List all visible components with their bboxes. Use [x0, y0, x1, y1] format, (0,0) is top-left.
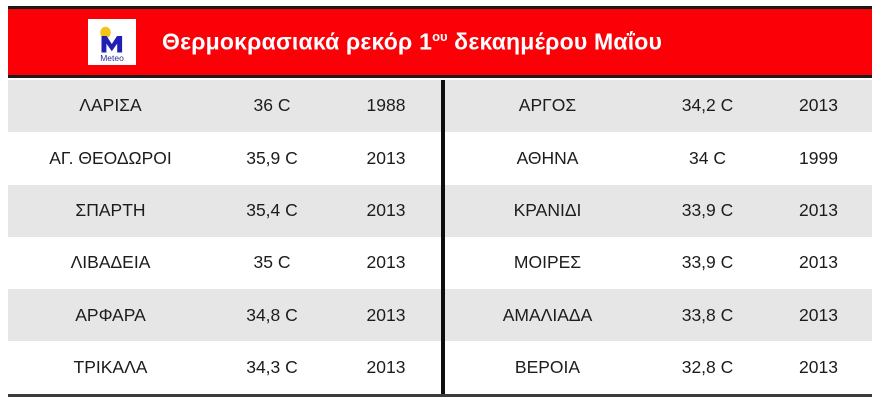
station-temperature: 34,2 C — [650, 97, 765, 115]
row-right-half: ΑΜΑΛΙΑΔΑ 33,8 C 2013 — [441, 289, 872, 341]
station-name: ΒΕΡΟΙΑ — [445, 359, 650, 377]
station-year: 2013 — [331, 307, 441, 325]
station-name: ΚΡΑΝΙΔΙ — [445, 202, 650, 220]
station-year: 2013 — [331, 202, 441, 220]
row-left-half: ΛΙΒΑΔΕΙΑ 35 C 2013 — [8, 237, 441, 289]
station-name: ΣΠΑΡΤΗ — [8, 202, 213, 220]
row-left-half: ΤΡΙΚΑΛΑ 34,3 C 2013 — [8, 341, 441, 393]
station-temperature: 34,3 C — [213, 359, 331, 377]
table-header-band: Meteo Θερμοκρασιακά ρεκόρ 1ου δεκαημέρου… — [8, 6, 872, 78]
header-red-bar: Meteo Θερμοκρασιακά ρεκόρ 1ου δεκαημέρου… — [8, 9, 872, 75]
row-right-half: ΒΕΡΟΙΑ 32,8 C 2013 — [441, 341, 872, 393]
row-right-half: ΑΘΗΝΑ 34 C 1999 — [441, 132, 872, 184]
station-name: ΑΜΑΛΙΑΔΑ — [445, 307, 650, 325]
header-title-rest: δεκαημέρου Μαΐου — [448, 29, 663, 55]
station-year: 2013 — [765, 307, 872, 325]
station-name: ΑΡΓΟΣ — [445, 97, 650, 115]
header-title-superscript: ου — [432, 29, 448, 44]
row-left-half: ΑΡΦΑΡΑ 34,8 C 2013 — [8, 289, 441, 341]
row-right-half: ΑΡΓΟΣ 34,2 C 2013 — [441, 80, 872, 132]
station-year: 2013 — [765, 202, 872, 220]
station-name: ΑΡΦΑΡΑ — [8, 307, 213, 325]
row-left-half: ΛΑΡΙΣΑ 36 C 1988 — [8, 80, 441, 132]
station-temperature: 35,9 C — [213, 150, 331, 168]
station-temperature: 35 C — [213, 254, 331, 272]
table-row: ΛΑΡΙΣΑ 36 C 1988 ΑΡΓΟΣ 34,2 C 2013 — [8, 80, 872, 132]
station-year: 2013 — [331, 254, 441, 272]
table-row: ΛΙΒΑΔΕΙΑ 35 C 2013 ΜΟΙΡΕΣ 33,9 C 2013 — [8, 237, 872, 289]
meteo-logo: Meteo — [88, 19, 136, 65]
row-left-half: ΣΠΑΡΤΗ 35,4 C 2013 — [8, 185, 441, 237]
station-name: ΛΙΒΑΔΕΙΑ — [8, 254, 213, 272]
station-name: ΑΘΗΝΑ — [445, 150, 650, 168]
header-title: Θερμοκρασιακά ρεκόρ 1ου δεκαημέρου Μαΐου — [162, 30, 662, 54]
station-name: ΤΡΙΚΑΛΑ — [8, 359, 213, 377]
station-temperature: 33,8 C — [650, 307, 765, 325]
station-year: 1988 — [331, 97, 441, 115]
station-year: 1999 — [765, 150, 872, 168]
station-year: 2013 — [765, 359, 872, 377]
row-right-half: ΜΟΙΡΕΣ 33,9 C 2013 — [441, 237, 872, 289]
station-temperature: 35,4 C — [213, 202, 331, 220]
station-year: 2013 — [331, 150, 441, 168]
row-left-half: ΑΓ. ΘΕΟΔΩΡΟΙ 35,9 C 2013 — [8, 132, 441, 184]
temperature-records-table: Meteo Θερμοκρασιακά ρεκόρ 1ου δεκαημέρου… — [0, 0, 880, 405]
table-row: ΑΓ. ΘΕΟΔΩΡΟΙ 35,9 C 2013 ΑΘΗΝΑ 34 C 1999 — [8, 132, 872, 184]
row-right-half: ΚΡΑΝΙΔΙ 33,9 C 2013 — [441, 185, 872, 237]
station-year: 2013 — [765, 254, 872, 272]
station-year: 2013 — [765, 97, 872, 115]
svg-text:Meteo: Meteo — [100, 53, 124, 63]
station-temperature: 33,9 C — [650, 202, 765, 220]
station-name: ΛΑΡΙΣΑ — [8, 97, 213, 115]
table-row: ΤΡΙΚΑΛΑ 34,3 C 2013 ΒΕΡΟΙΑ 32,8 C 2013 — [8, 341, 872, 393]
meteo-logo-icon: Meteo — [88, 19, 136, 65]
station-temperature: 33,9 C — [650, 254, 765, 272]
station-name: ΑΓ. ΘΕΟΔΩΡΟΙ — [8, 150, 213, 168]
records-table-body: ΛΑΡΙΣΑ 36 C 1988 ΑΡΓΟΣ 34,2 C 2013 ΑΓ. Θ… — [8, 80, 872, 397]
station-name: ΜΟΙΡΕΣ — [445, 254, 650, 272]
header-title-main: Θερμοκρασιακά ρεκόρ 1 — [162, 29, 432, 55]
table-row: ΑΡΦΑΡΑ 34,8 C 2013 ΑΜΑΛΙΑΔΑ 33,8 C 2013 — [8, 289, 872, 341]
station-temperature: 36 C — [213, 97, 331, 115]
station-temperature: 34 C — [650, 150, 765, 168]
station-temperature: 34,8 C — [213, 307, 331, 325]
station-year: 2013 — [331, 359, 441, 377]
station-temperature: 32,8 C — [650, 359, 765, 377]
table-row: ΣΠΑΡΤΗ 35,4 C 2013 ΚΡΑΝΙΔΙ 33,9 C 2013 — [8, 185, 872, 237]
